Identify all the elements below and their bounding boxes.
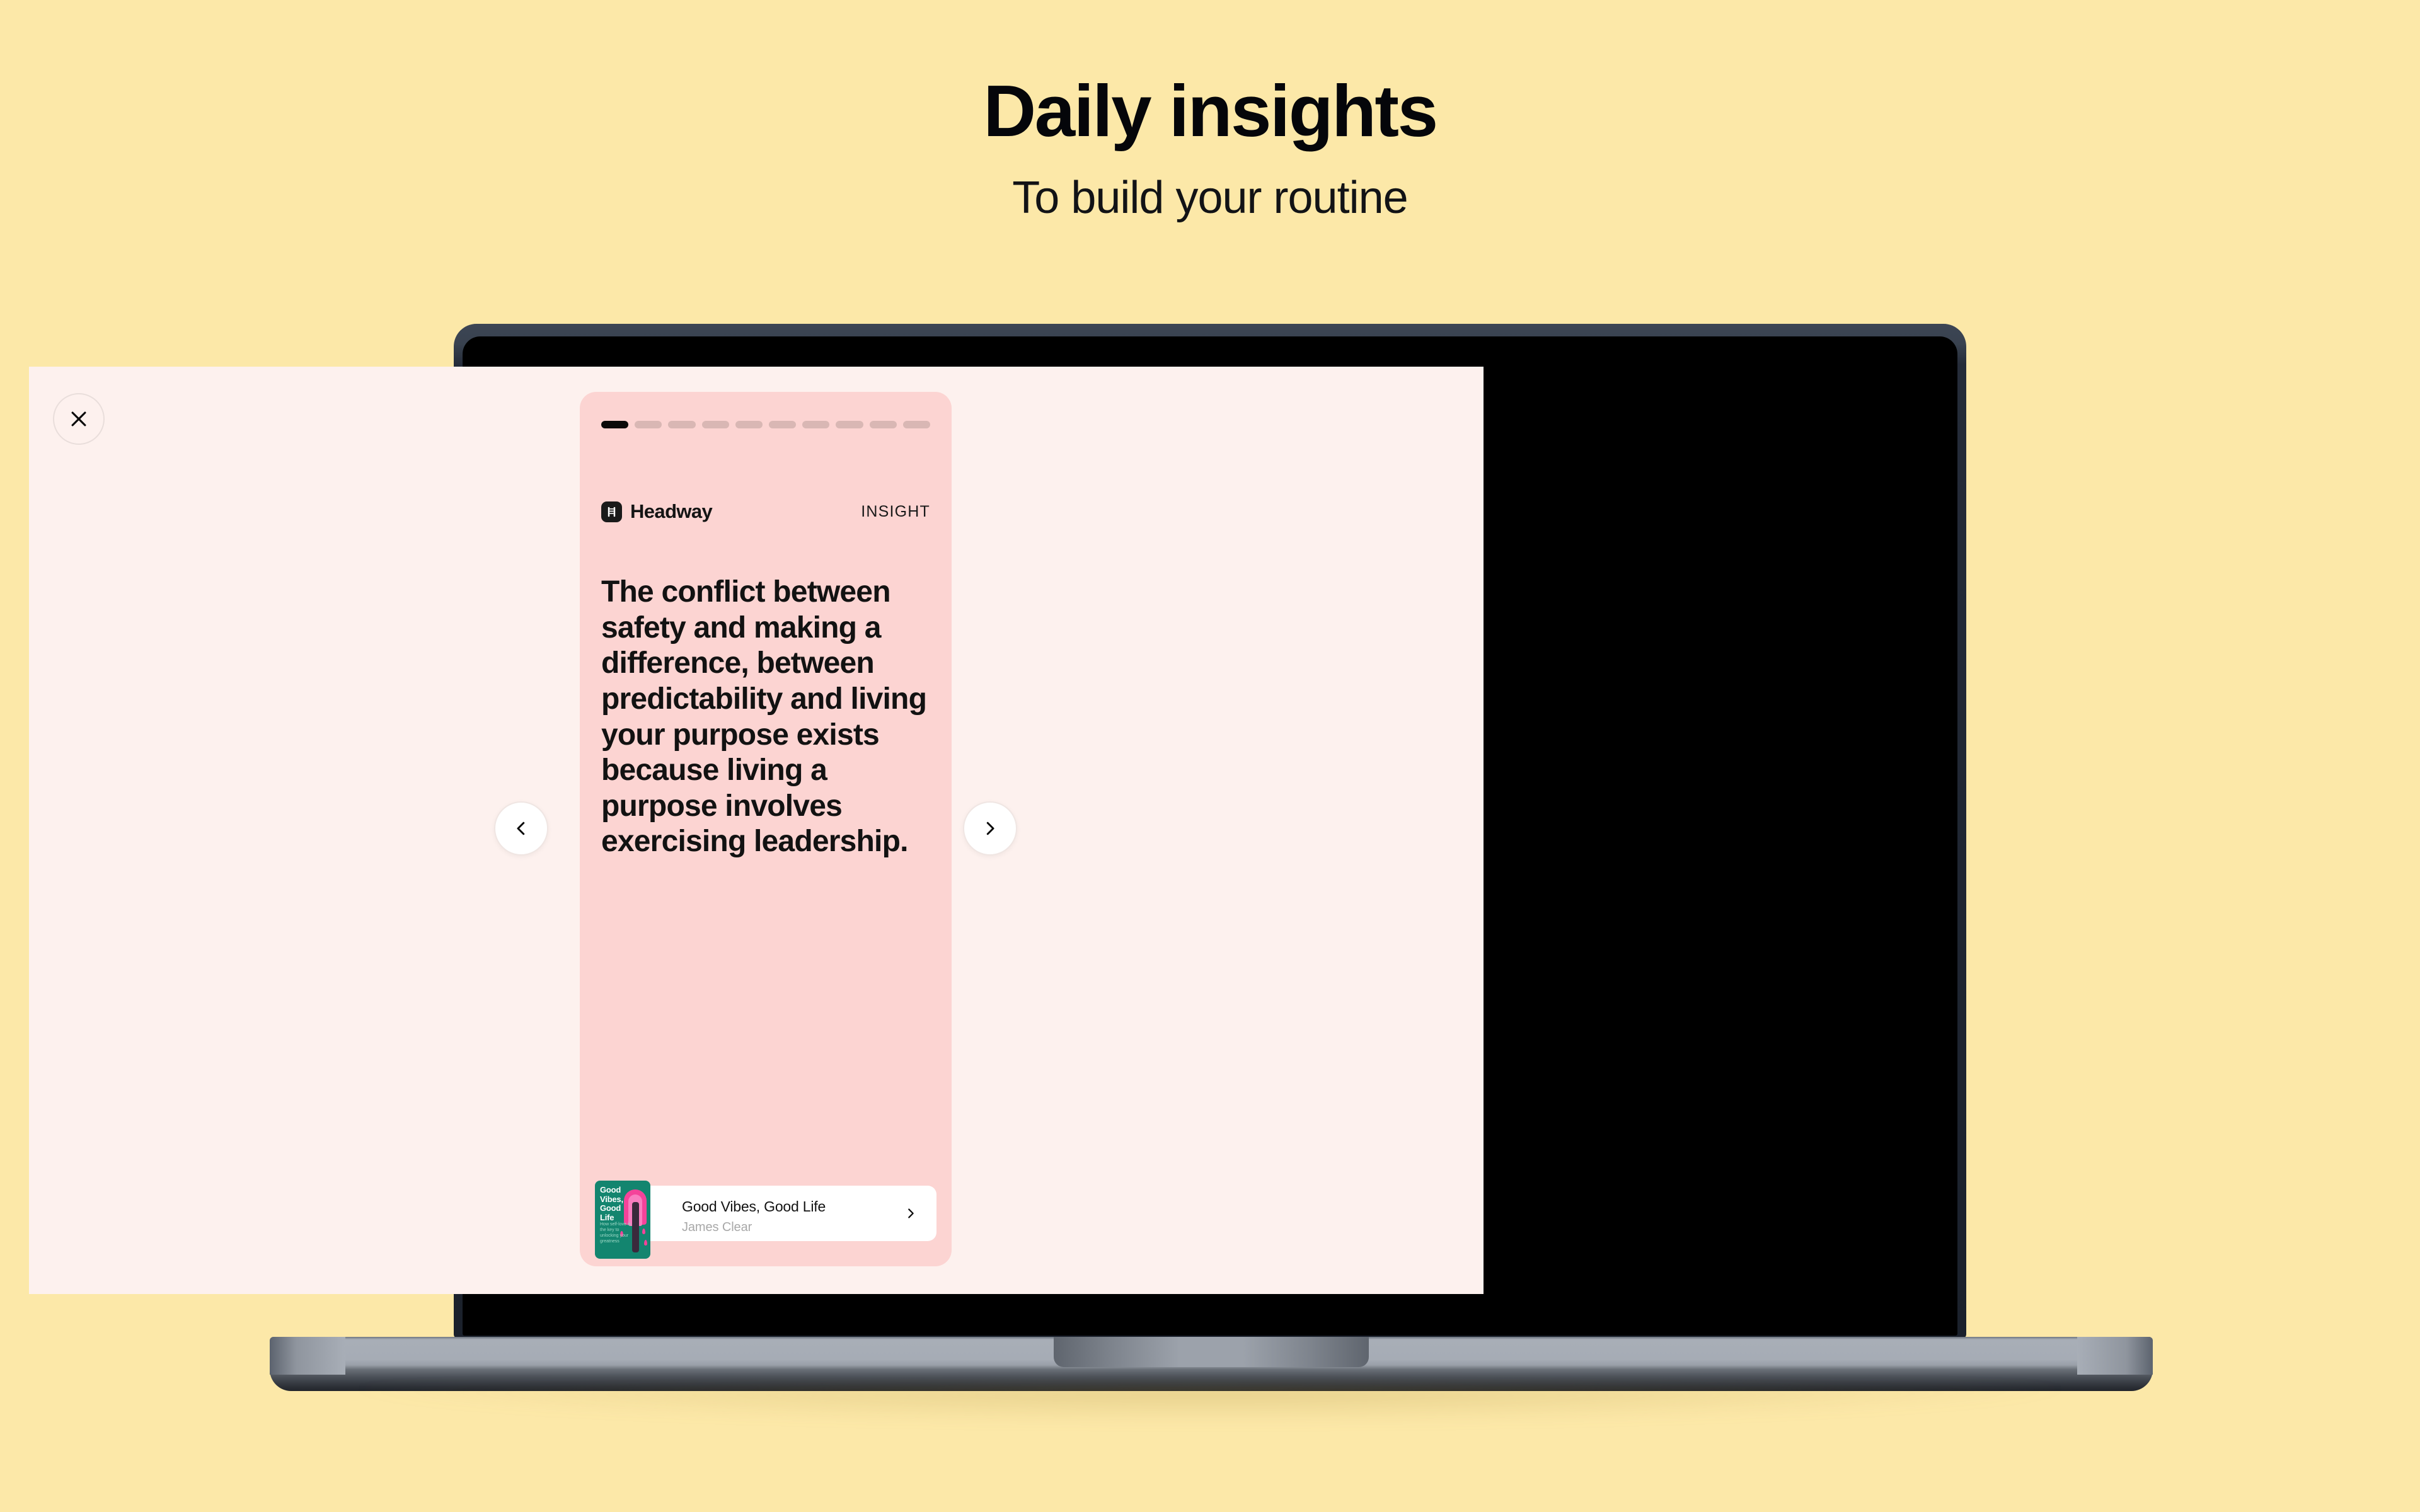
brand-name: Headway [630,500,712,523]
progress-segment[interactable] [870,421,897,428]
close-icon [68,408,89,430]
book-open-button[interactable] [904,1206,918,1220]
laptop-mockup: Headway INSIGHT The conflict between saf… [0,315,2420,1399]
laptop-screen: Headway INSIGHT The conflict between saf… [29,367,1484,1294]
headway-ladder-icon [601,501,622,522]
progress-segment[interactable] [769,421,796,428]
insight-tag: INSIGHT [861,503,930,521]
progress-segment[interactable] [601,421,628,428]
laptop-base-notch [1054,1337,1369,1367]
laptop-shadow [353,1386,2067,1424]
book-title: Good Vibes, Good Life [682,1198,890,1216]
insight-quote: The conflict between safety and making a… [601,575,935,860]
laptop-base-left-edge [270,1337,345,1375]
progress-segment[interactable] [702,421,729,428]
insight-card[interactable]: Headway INSIGHT The conflict between saf… [580,392,952,1266]
ladder-glyph [606,506,618,518]
page-header: Daily insights To build your routine [0,0,2420,220]
progress-segment[interactable] [635,421,662,428]
card-header: Headway INSIGHT [601,500,930,523]
brand-lockup: Headway [601,500,712,523]
book-pill[interactable]: Good Vibes, Good Life James Clear [606,1186,936,1241]
book-cover-title: Good Vibes, Good Life [600,1186,637,1222]
chevron-right-icon [981,819,1000,838]
book-text: Good Vibes, Good Life James Clear [682,1198,890,1235]
drip-icon [642,1228,645,1234]
prev-slide-button[interactable] [494,801,548,856]
progress-segment[interactable] [735,421,763,428]
progress-segment[interactable] [802,421,829,428]
drip-icon [644,1240,647,1246]
book-cover: Good Vibes, Good Life How self-love is t… [595,1181,650,1259]
book-reference-row[interactable]: Good Vibes, Good Life James Clear [595,1181,936,1246]
chevron-right-icon [904,1206,918,1220]
progress-segment[interactable] [668,421,695,428]
page-title: Daily insights [0,74,2420,147]
laptop-base-right-edge [2077,1337,2153,1375]
book-author: James Clear [682,1220,890,1235]
progress-segment[interactable] [903,421,930,428]
close-button[interactable] [53,393,105,445]
page-subtitle: To build your routine [0,175,2420,220]
book-cover-subtitle: How self-love is the key to unlocking yo… [600,1222,633,1245]
next-slide-button[interactable] [963,801,1017,856]
slide-progress-bar[interactable] [601,421,930,428]
progress-segment[interactable] [836,421,863,428]
chevron-left-icon [512,819,531,838]
